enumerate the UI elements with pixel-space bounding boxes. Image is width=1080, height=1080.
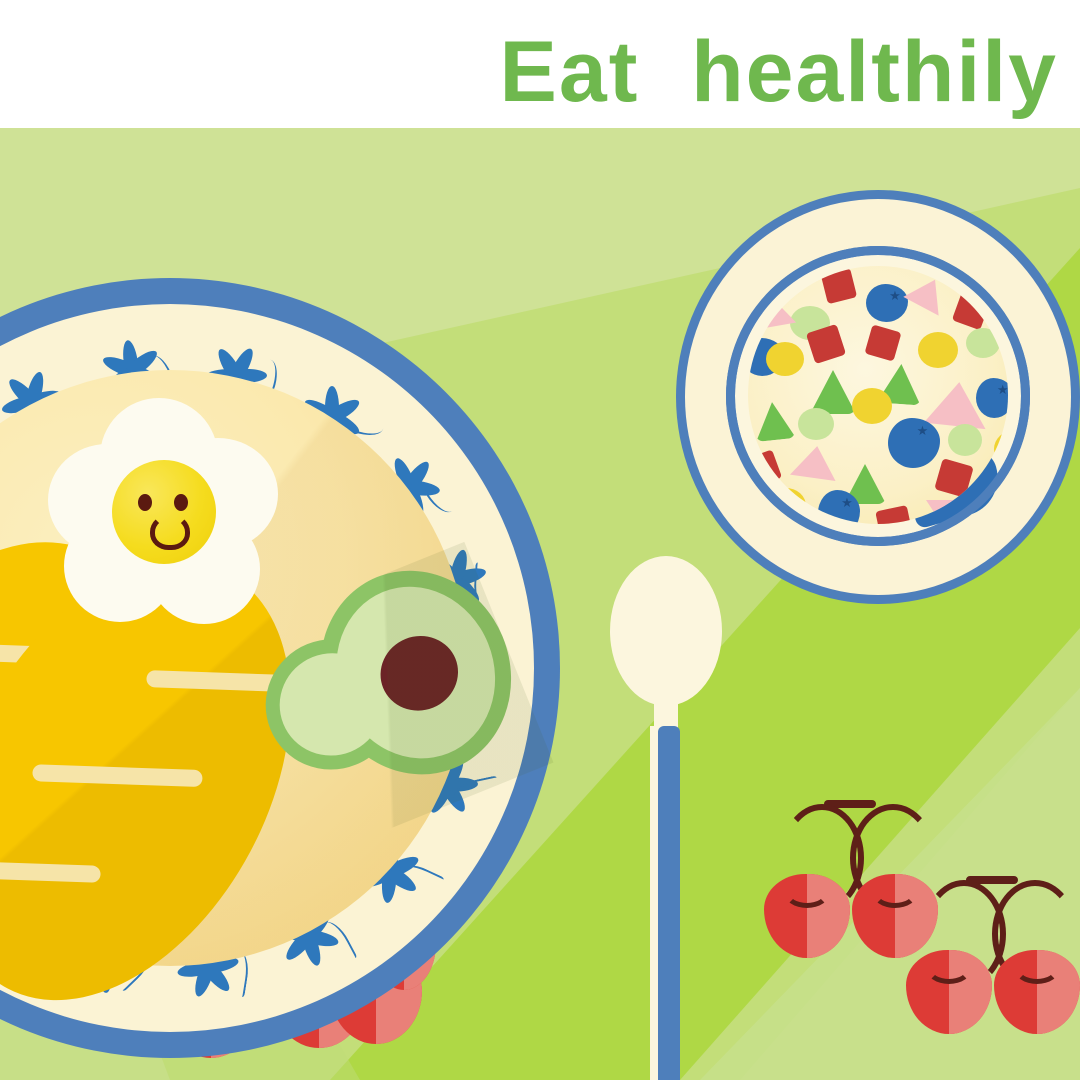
- cherry-dimple: [1014, 952, 1060, 984]
- yolk-eye-right: [174, 494, 188, 511]
- cereal-blueberry: ★: [976, 378, 1008, 418]
- cereal-blueberry: ★: [888, 418, 940, 468]
- cereal-triangle: [790, 443, 840, 481]
- table-cherry: [764, 874, 850, 958]
- spoon-handle-highlight: [650, 726, 658, 1080]
- page-title: Eat healthily: [500, 24, 1059, 120]
- cereal-milk: ★★★★★★★★★: [748, 266, 1008, 524]
- cereal-circle: [852, 388, 892, 424]
- cereal-square: [875, 505, 913, 524]
- cereal-blueberry: ★: [866, 284, 908, 322]
- cereal-circle: [966, 328, 1000, 358]
- cereal-square: [864, 324, 901, 361]
- cereal-square: [821, 268, 857, 304]
- cereal-circle: [918, 332, 958, 368]
- blueberry-star-icon: ★: [841, 496, 853, 509]
- poster-illustration: Eat healthily ★★★★★★★★★: [0, 0, 1080, 1080]
- spoon-handle: [658, 726, 680, 1080]
- yolk-eye-left: [138, 494, 152, 511]
- cereal-bowl[interactable]: ★★★★★★★★★: [676, 190, 1080, 604]
- fried-egg: [48, 398, 278, 628]
- cereal-circle: [766, 488, 806, 524]
- blueberry-star-icon: ★: [997, 383, 1008, 396]
- egg-yolk: [112, 460, 216, 564]
- header-bar: Eat healthily: [0, 0, 1080, 128]
- cereal-triangle: [926, 500, 968, 524]
- cereal-circle: [948, 424, 982, 456]
- blueberry-star-icon: ★: [917, 424, 929, 437]
- table-cherry: [994, 950, 1080, 1034]
- cherry-dimple: [784, 876, 830, 908]
- cereal-circle: [798, 408, 834, 440]
- cherry-pair: [908, 876, 1080, 1036]
- illustration-stage: ★★★★★★★★★: [0, 128, 1080, 1080]
- yolk-mouth: [150, 514, 190, 550]
- blueberry-star-icon: ★: [889, 289, 901, 302]
- cereal-circle: [766, 342, 804, 376]
- cereal-triangle: [752, 400, 796, 442]
- cherry-dimple: [926, 952, 972, 984]
- table-cherry: [906, 950, 992, 1034]
- spoon[interactable]: [610, 556, 740, 1080]
